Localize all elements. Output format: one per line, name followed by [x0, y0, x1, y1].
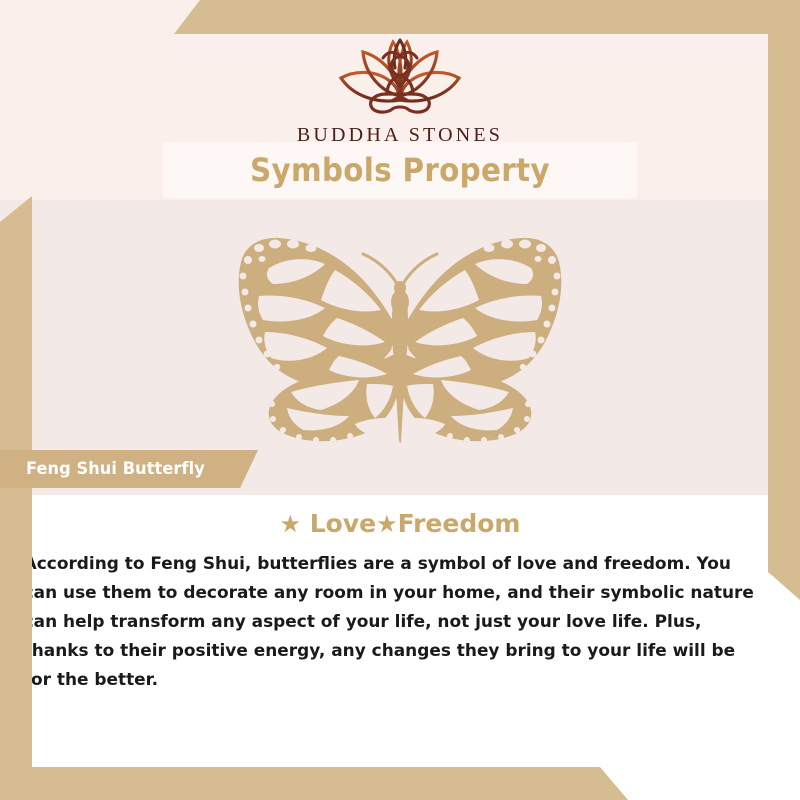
star-icon-middle: ★	[376, 510, 398, 538]
heading-word-freedom: Freedom	[398, 509, 521, 538]
butterfly-illustration	[215, 232, 585, 447]
heading-word-love: Love	[310, 509, 376, 538]
star-icon-left: ★	[280, 510, 302, 538]
page-title: Symbols Property	[250, 151, 550, 189]
brand-logo: BUDDHA STONES	[0, 26, 800, 147]
lotus-meditation-icon	[305, 26, 495, 122]
product-infographic: ★ Love★Freedom According to Feng Shui, b…	[0, 0, 800, 800]
content-heading: ★ Love★Freedom	[0, 509, 800, 538]
title-banner: Symbols Property	[163, 142, 637, 198]
category-tab-feng-shui-butterfly[interactable]: Feng Shui Butterfly	[0, 450, 258, 488]
description-card: ★ Love★Freedom According to Feng Shui, b…	[0, 495, 800, 780]
frame-accent-left	[0, 196, 32, 784]
butterfly-icon	[215, 232, 585, 447]
description-paragraph: According to Feng Shui, butterflies are …	[0, 550, 788, 695]
category-tab-label: Feng Shui Butterfly	[26, 459, 205, 479]
